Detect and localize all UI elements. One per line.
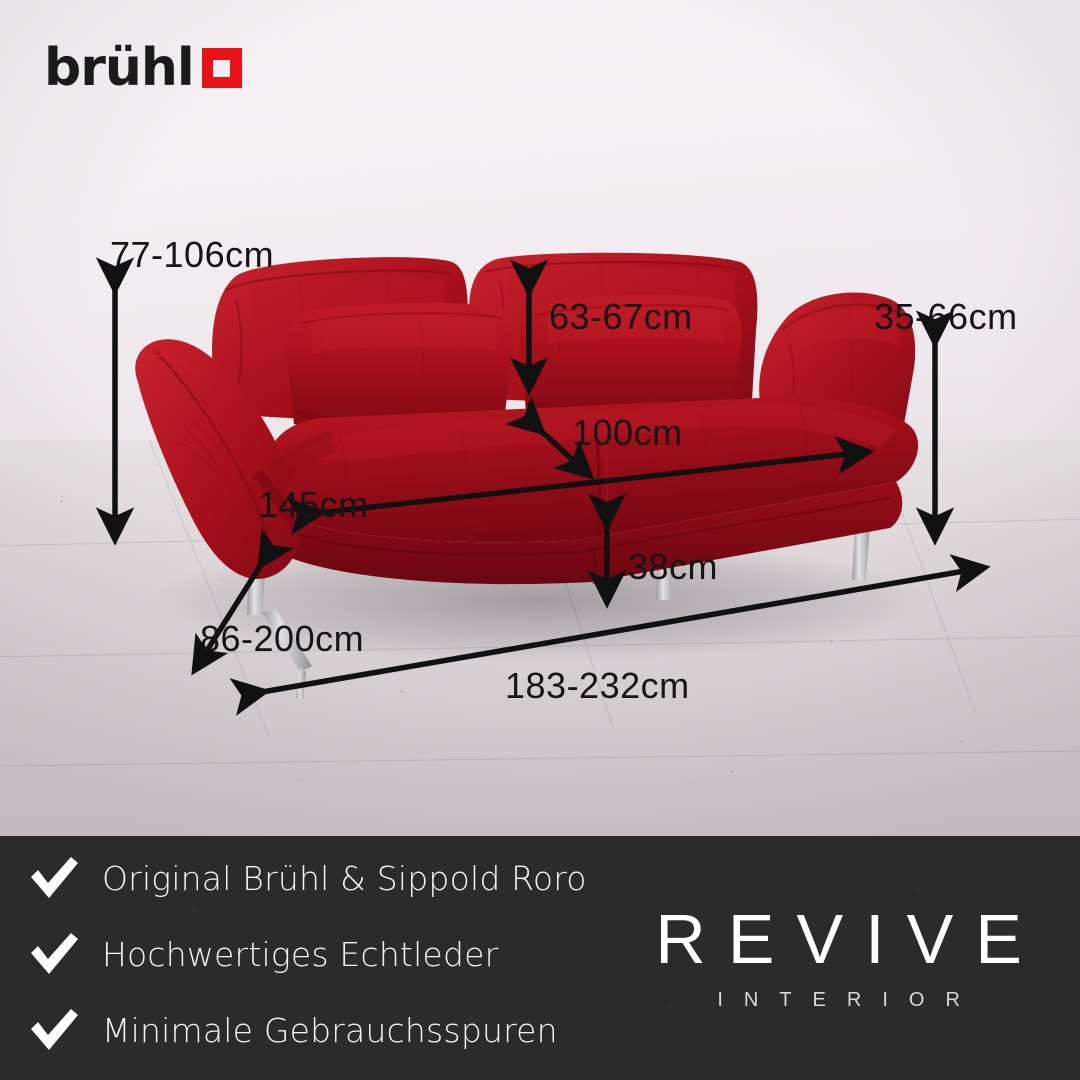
list-item: Hochwertiges Echtleder [28,926,587,982]
dim-label-back-height: 77-106cm [110,234,274,276]
revive-logo-tagline: INTERIOR [696,990,981,1010]
revive-logo-wordmark: REVIVE [633,904,1044,974]
checkmark-icon [28,855,80,901]
product-photo: 77-106cm 63-67cm 35-66cm 100cm 145cm 38c… [0,0,1080,836]
revive-interior-logo: REVIVE INTERIOR [633,904,1044,1010]
feature-label: Original Brühl & Sippold Roro [102,862,587,895]
feature-list: Original Brühl & Sippold Roro Hochwertig… [28,850,587,1058]
dimension-arrows [0,0,1080,836]
arrow-seat-width [318,452,866,513]
feature-label: Minimale Gebrauchsspuren [102,1014,558,1047]
bruehl-logo-wordmark: brühl [44,42,194,94]
red-square-logo-icon [202,48,242,88]
dim-label-total-width: 183-232cm [505,665,690,707]
dim-label-seat-depth: 100cm [572,412,683,454]
list-item: Minimale Gebrauchsspuren [28,1002,587,1058]
bottom-banner: Original Brühl & Sippold Roro Hochwertig… [0,836,1080,1080]
dim-label-armrest-height: 35-66cm [874,296,1018,338]
bruehl-logo: brühl [44,42,242,94]
dim-label-seat-height: 38cm [628,546,718,588]
checkmark-icon [28,1007,80,1053]
checkmark-icon [28,931,80,977]
dim-label-seat-width: 145cm [258,484,369,526]
feature-label: Hochwertiges Echtleder [102,938,498,971]
list-item: Original Brühl & Sippold Roro [28,850,587,906]
dim-label-backrest-height: 63-67cm [549,296,693,338]
dim-label-total-depth: 86-200cm [200,618,364,660]
